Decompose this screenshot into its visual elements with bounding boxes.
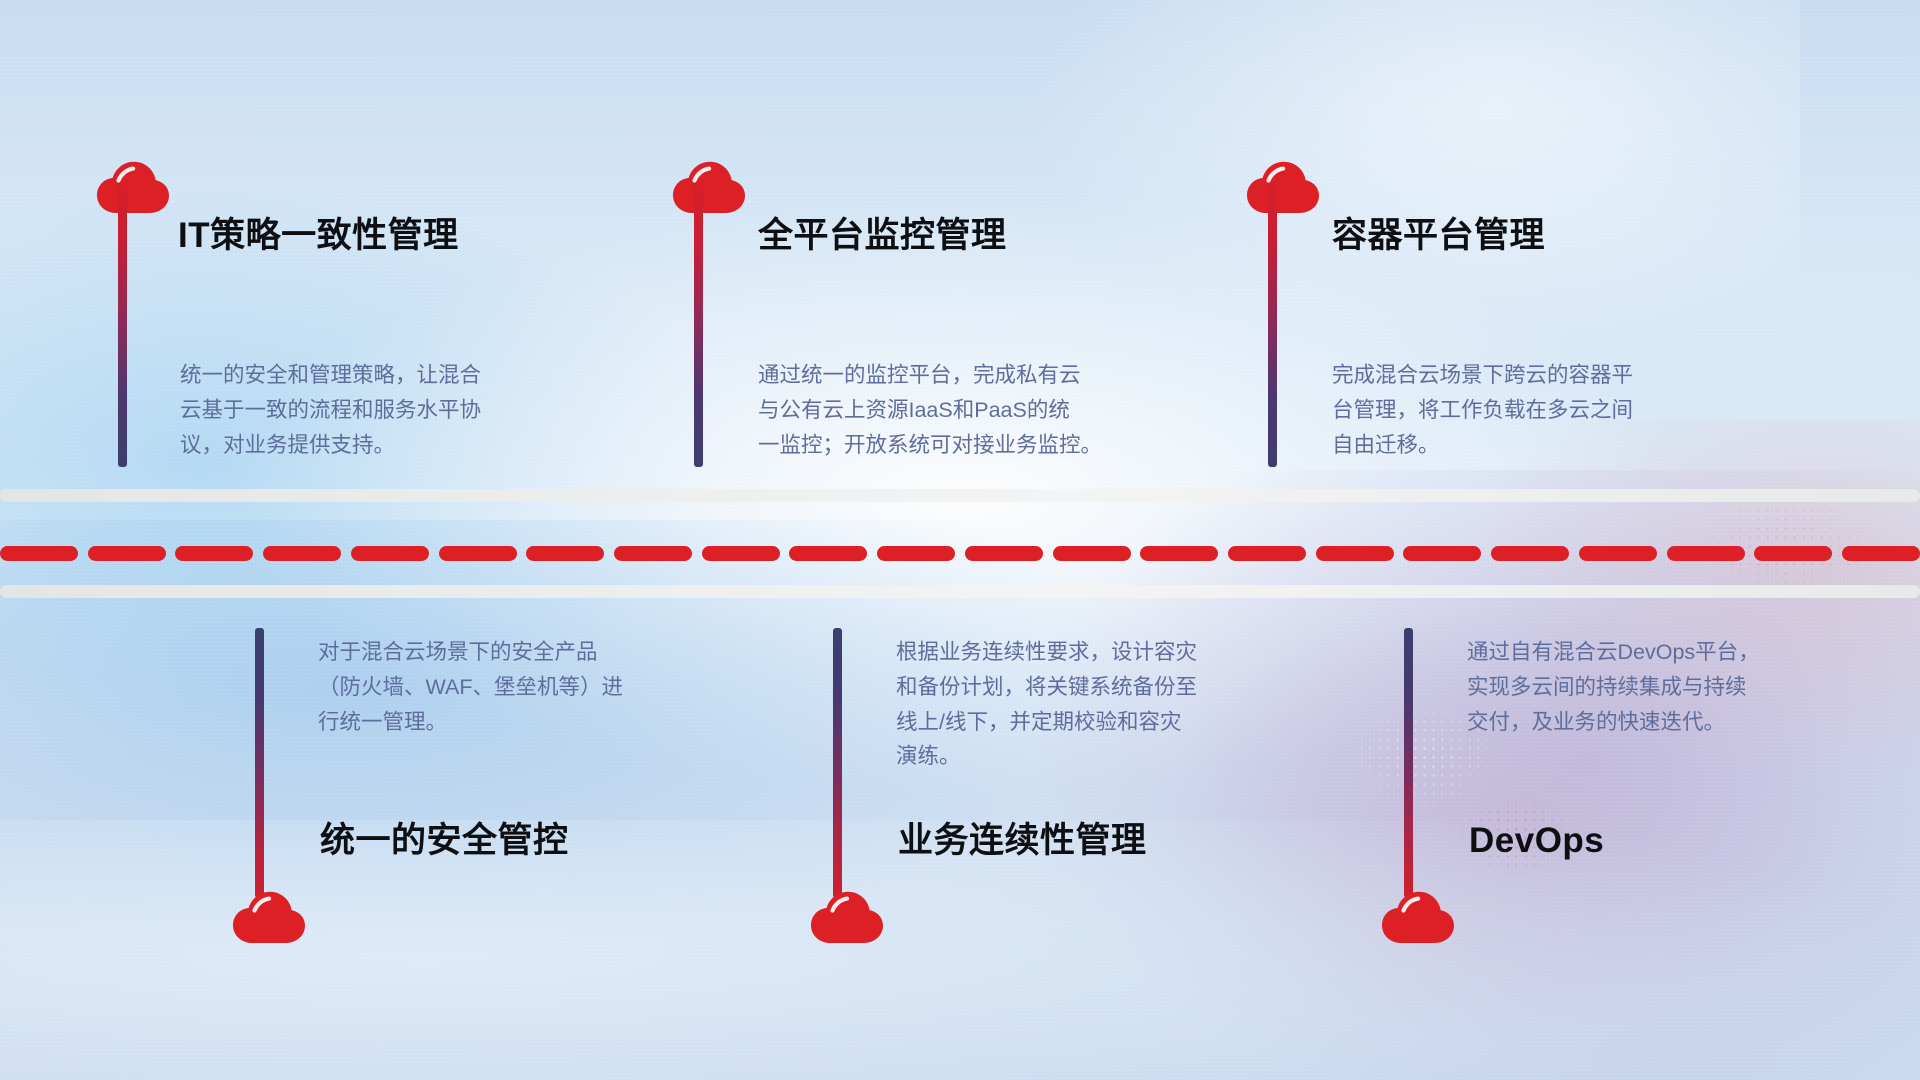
column-description: 完成混合云场景下跨云的容器平 台管理，将工作负载在多云之间 自由迁移。 bbox=[1332, 358, 1782, 462]
road-edge-line-bottom bbox=[0, 585, 1920, 598]
road-dash bbox=[175, 546, 253, 561]
road-dash bbox=[702, 546, 780, 561]
road-dash bbox=[1491, 546, 1569, 561]
road-dash bbox=[789, 546, 867, 561]
column-description: 根据业务连续性要求，设计容灾 和备份计划，将关键系统备份至 线上/线下，并定期校… bbox=[896, 635, 1326, 774]
road-dash bbox=[526, 546, 604, 561]
road-dash bbox=[263, 546, 341, 561]
road-dash bbox=[1228, 546, 1306, 561]
road-dashed-centerline bbox=[0, 546, 1920, 561]
column-stem-line bbox=[694, 182, 703, 467]
column-title: IT策略一致性管理 bbox=[178, 215, 459, 257]
column-title: 容器平台管理 bbox=[1332, 215, 1545, 257]
column-title: 全平台监控管理 bbox=[758, 215, 1007, 257]
column-description: 统一的安全和管理策略，让混合 云基于一致的流程和服务水平协 议，对业务提供支持。 bbox=[180, 358, 610, 462]
column-description: 对于混合云场景下的安全产品 （防火墙、WAF、堡垒机等）进 行统一管理。 bbox=[318, 635, 738, 739]
cloud-icon bbox=[1381, 890, 1455, 944]
road-dash bbox=[1316, 546, 1394, 561]
cloud-icon bbox=[232, 890, 306, 944]
road-dash bbox=[88, 546, 166, 561]
column-stem-line bbox=[833, 628, 842, 898]
column-title: 统一的安全管控 bbox=[320, 820, 569, 862]
road-dash bbox=[1053, 546, 1131, 561]
cloud-icon bbox=[96, 160, 170, 214]
column-title: 业务连续性管理 bbox=[898, 820, 1147, 862]
infographic-canvas: IT策略一致性管理 统一的安全和管理策略，让混合 云基于一致的流程和服务水平协 … bbox=[0, 0, 1920, 1080]
cloud-icon bbox=[1246, 160, 1320, 214]
road-dash bbox=[1667, 546, 1745, 561]
road-edge-line-top bbox=[0, 489, 1920, 502]
road-dash bbox=[439, 546, 517, 561]
column-stem-line bbox=[1404, 628, 1413, 898]
road-dash bbox=[1842, 546, 1920, 561]
column-stem-line bbox=[1268, 182, 1277, 467]
road-dash bbox=[1140, 546, 1218, 561]
cloud-icon bbox=[672, 160, 746, 214]
column-stem-line bbox=[255, 628, 264, 898]
road-dash bbox=[0, 546, 78, 561]
road-dash bbox=[1579, 546, 1657, 561]
road-dash bbox=[614, 546, 692, 561]
road-dash bbox=[1403, 546, 1481, 561]
road-dash bbox=[877, 546, 955, 561]
road-dash bbox=[1754, 546, 1832, 561]
column-stem-line bbox=[118, 182, 127, 467]
column-description: 通过统一的监控平台，完成私有云 与公有云上资源IaaS和PaaS的统 一监控；开… bbox=[758, 358, 1218, 462]
column-title: DevOps bbox=[1469, 820, 1604, 862]
road-dash bbox=[351, 546, 429, 561]
column-description: 通过自有混合云DevOps平台， 实现多云间的持续集成与持续 交付，及业务的快速… bbox=[1467, 635, 1907, 739]
cloud-icon bbox=[810, 890, 884, 944]
road-dash bbox=[965, 546, 1043, 561]
